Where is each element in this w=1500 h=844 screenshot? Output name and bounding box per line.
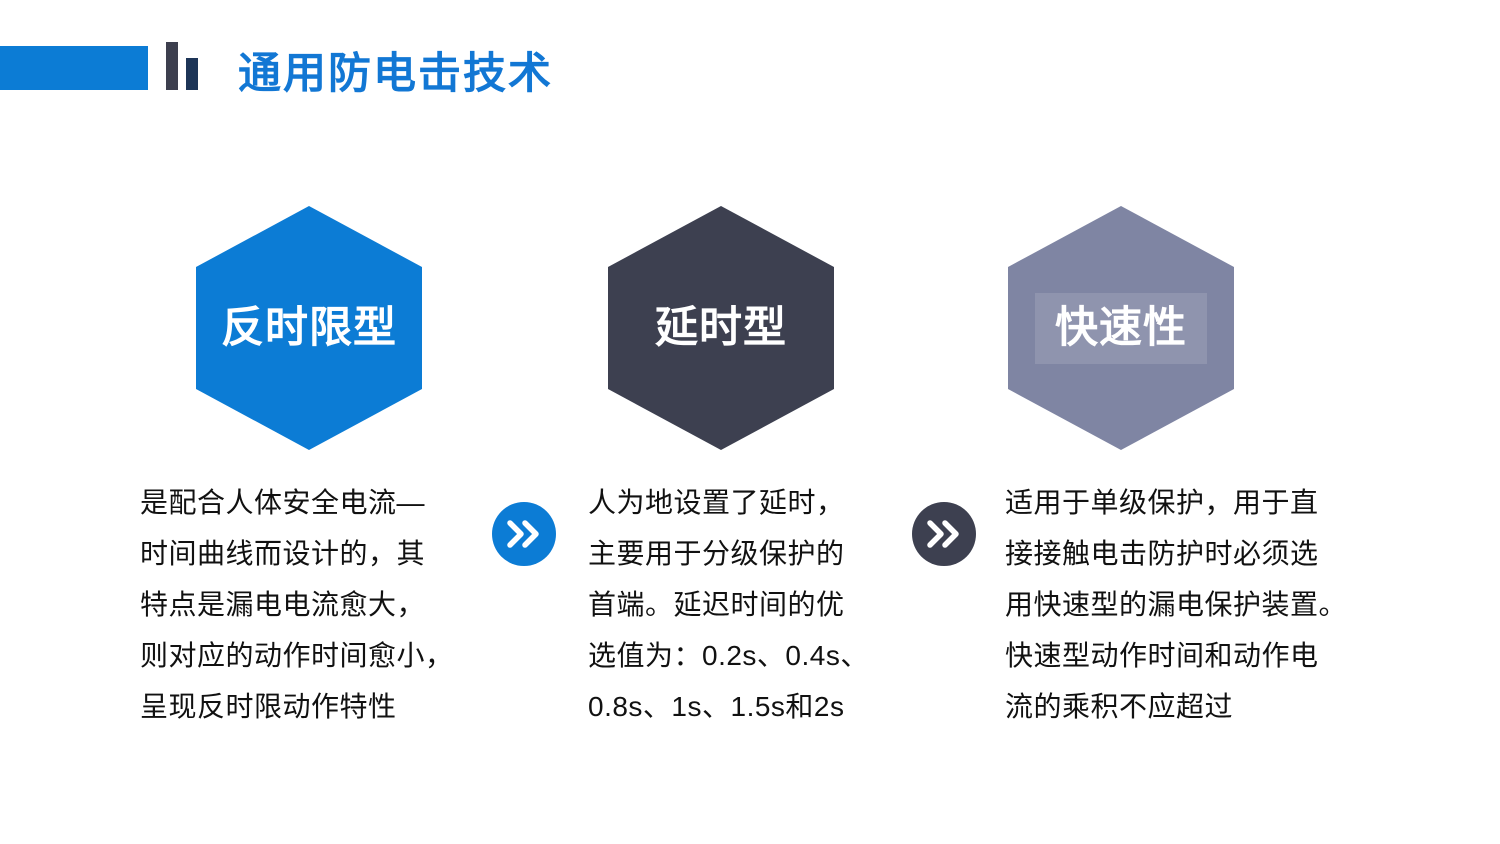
- hexagon-label-wrap-2: 延时型: [643, 301, 799, 356]
- description-line: 快速型动作时间和动作电: [1005, 631, 1373, 682]
- description-line: 流的乘积不应超过: [1005, 682, 1373, 733]
- description-column-3: 适用于单级保护，用于直 接接触电击防护时必须选 用快速型的漏电保护装置。 快速型…: [1005, 478, 1373, 733]
- description-line: 时间曲线而设计的，其: [140, 529, 476, 580]
- description-line: 则对应的动作时间愈小，: [140, 631, 476, 682]
- description-column-2: 人为地设置了延时， 主要用于分级保护的 首端。延迟时间的优 选值为：0.2s、0…: [588, 478, 888, 733]
- hexagon-label-1: 反时限型: [221, 307, 397, 350]
- page-title: 通用防电击技术: [238, 53, 553, 96]
- description-line: 呈现反时限动作特性: [140, 682, 476, 733]
- hexagon-row: 反时限型 延时型 快速性: [0, 206, 1500, 450]
- double-chevron-right-icon-1: [492, 502, 556, 566]
- description-line: 特点是漏电电流愈大，: [140, 580, 476, 631]
- hexagon-label-3: 快速性: [1055, 307, 1187, 350]
- slide: 通用防电击技术 反时限型 延时型 快速性: [0, 0, 1500, 844]
- description-line: 首端。延迟时间的优: [588, 580, 888, 631]
- description-line: 适用于单级保护，用于直: [1005, 478, 1373, 529]
- description-line: 人为地设置了延时，: [588, 478, 888, 529]
- description-line: 接接触电击防护时必须选: [1005, 529, 1373, 580]
- description-line: 主要用于分级保护的: [588, 529, 888, 580]
- hexagon-label-wrap-1: 反时限型: [209, 301, 409, 356]
- hexagon-card-3[interactable]: 快速性: [1008, 206, 1234, 450]
- description-line: 选值为：0.2s、0.4s、: [588, 631, 888, 682]
- header-tick-navy: [186, 58, 198, 90]
- header-tick-dark: [166, 42, 178, 90]
- slide-header: 通用防电击技术: [0, 38, 553, 94]
- header-blue-bar-decoration: [0, 46, 148, 90]
- double-chevron-right-icon-2: [912, 502, 976, 566]
- description-line: 用快速型的漏电保护装置。: [1005, 580, 1373, 631]
- hexagon-label-2: 延时型: [655, 307, 787, 350]
- hexagon-card-1[interactable]: 反时限型: [196, 206, 422, 450]
- description-line: 是配合人体安全电流—: [140, 478, 476, 529]
- description-column-1: 是配合人体安全电流— 时间曲线而设计的，其 特点是漏电电流愈大， 则对应的动作时…: [140, 478, 476, 733]
- header-tick-decoration-group: [166, 42, 198, 90]
- hexagon-card-2[interactable]: 延时型: [608, 206, 834, 450]
- hexagon-label-highlight-3: 快速性: [1035, 293, 1207, 364]
- description-line: 0.8s、1s、1.5s和2s: [588, 682, 888, 733]
